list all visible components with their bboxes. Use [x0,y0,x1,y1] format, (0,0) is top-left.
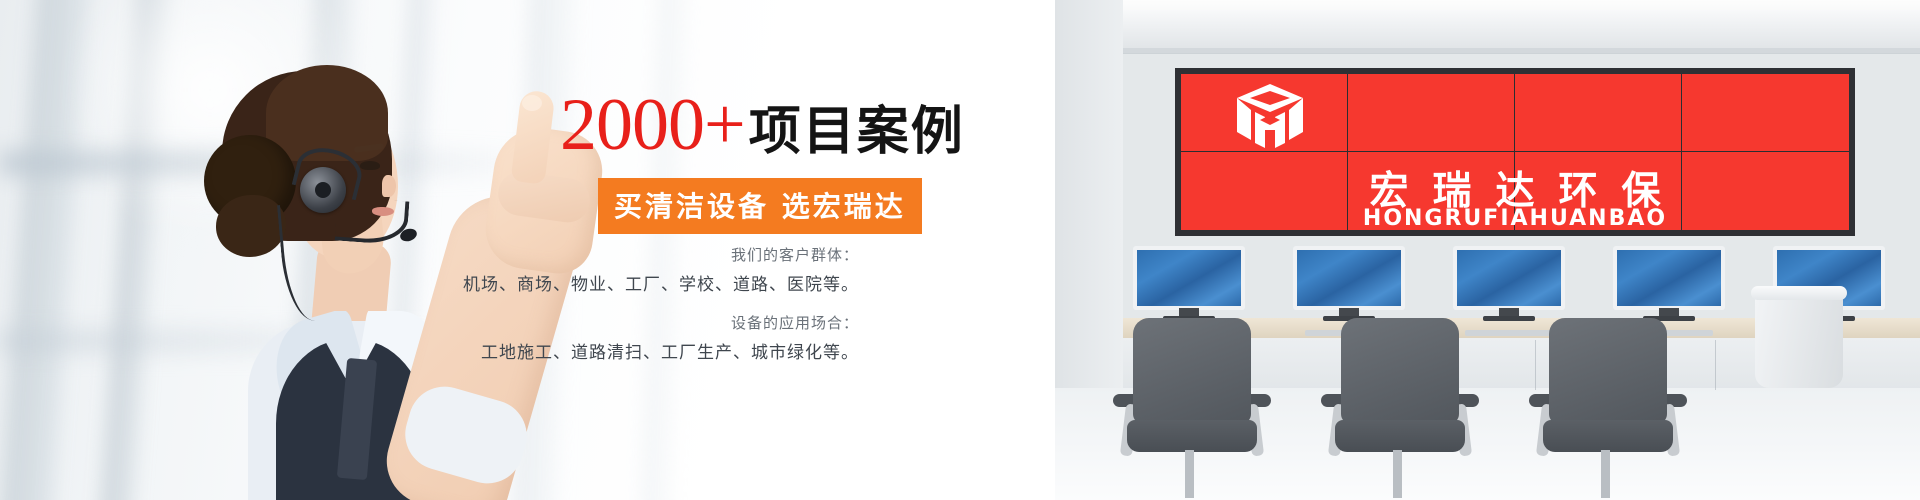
waste-bin-icon [1755,292,1843,388]
agent-hair-bun-lower [216,195,286,257]
company-name-en: HONGRUFIAHUANBAO [1181,206,1849,231]
page-title: 2000+ 项目案例 [560,88,965,162]
desktop-monitor-icon [1133,246,1245,320]
headline-count: 2000+ [560,88,745,162]
office-chair-icon [1107,318,1277,498]
headline-label: 项目案例 [749,106,965,158]
desktop-monitor-icon [1613,246,1725,320]
video-wall-cell [1682,74,1849,152]
left-hero-panel: 2000+ 项目案例 买清洁设备 选宏瑞达 我们的客户群体： 机场、商场、物业、… [0,0,1055,500]
application-scene-value: 工地施工、道路清扫、工厂生产、城市绿化等。 [463,338,859,363]
ceiling-edge [1055,48,1920,53]
agent-eye [360,161,380,170]
desktop-monitor-icon [1453,246,1565,320]
customer-group-label: 我们的客户群体： [463,244,859,265]
hongruida-cube-logo-icon [1233,82,1307,152]
office-chair-icon [1523,318,1693,498]
customer-group-value: 机场、商场、物业、工厂、学校、道路、医院等。 [463,270,859,295]
application-scene-label: 设备的应用场合： [463,312,859,333]
description-block: 我们的客户群体： 机场、商场、物业、工厂、学校、道路、医院等。 设备的应用场合：… [463,244,859,363]
headset-boom-icon [335,197,410,246]
agent-head [204,71,400,283]
promo-banner: 2000+ 项目案例 买清洁设备 选宏瑞达 我们的客户群体： 机场、商场、物业、… [0,0,1920,500]
video-wall-cell [1515,74,1682,152]
agent-nose [382,175,396,197]
right-control-room-panel: 宏瑞达环保 HONGRUFIAHUANBAO [1055,0,1920,500]
office-chair-icon [1315,318,1485,498]
desktop-monitor-icon [1293,246,1405,320]
waste-bin-lid [1751,286,1847,300]
led-video-wall: 宏瑞达环保 HONGRUFIAHUANBAO [1175,68,1855,236]
desk-seam [1715,340,1716,390]
video-wall-cell [1348,74,1515,152]
status-badge: 买清洁设备 选宏瑞达 [598,178,922,234]
fingernail [522,95,542,111]
video-wall-screen: 宏瑞达环保 HONGRUFIAHUANBAO [1181,74,1849,230]
